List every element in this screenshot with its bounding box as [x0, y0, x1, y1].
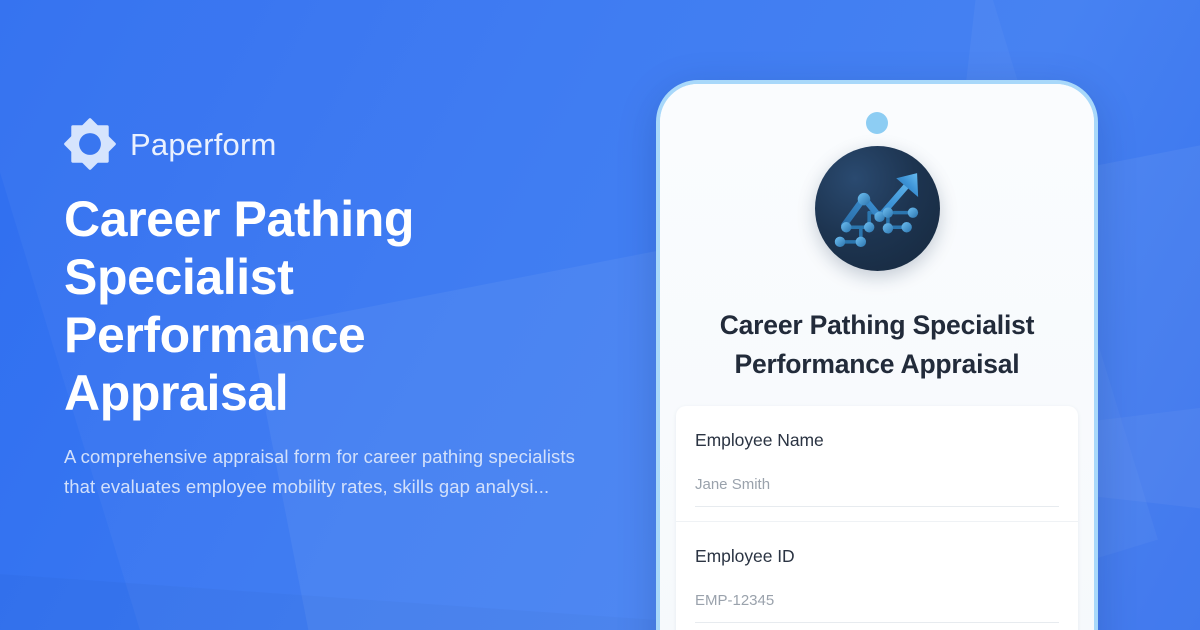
field-label: Employee Name: [695, 428, 1059, 452]
growth-chart-arrow-icon: [815, 146, 940, 271]
share-card-canvas: Paperform Career Pathing Specialist Perf…: [0, 0, 1200, 630]
hero-text-column: Paperform Career Pathing Specialist Perf…: [64, 0, 624, 630]
employee-id-input[interactable]: EMP-12345: [695, 590, 1059, 623]
phone-screen: Career Pathing Specialist Performance Ap…: [660, 84, 1094, 630]
page-title: Career Pathing Specialist Performance Ap…: [64, 190, 534, 422]
brand-name: Paperform: [130, 129, 277, 160]
page-description: A comprehensive appraisal form for caree…: [64, 442, 584, 502]
brand-lockup: Paperform: [64, 118, 277, 170]
form-hero-image: [815, 146, 940, 271]
field-spacer: [695, 507, 1059, 521]
form-title: Career Pathing Specialist Performance Ap…: [682, 306, 1072, 384]
employee-name-input[interactable]: Jane Smith: [695, 474, 1059, 507]
form-field-employee-name[interactable]: Employee Name Jane Smith: [676, 406, 1078, 521]
camera-dot-icon: [866, 112, 888, 134]
form-field-employee-id[interactable]: Employee ID EMP-12345: [676, 521, 1078, 630]
phone-mockup: Career Pathing Specialist Performance Ap…: [656, 80, 1098, 630]
field-spacer: [695, 623, 1059, 630]
field-label: Employee ID: [695, 544, 1059, 568]
paperform-logo-icon: [64, 118, 116, 170]
form-card: Employee Name Jane Smith Employee ID EMP…: [676, 406, 1078, 630]
